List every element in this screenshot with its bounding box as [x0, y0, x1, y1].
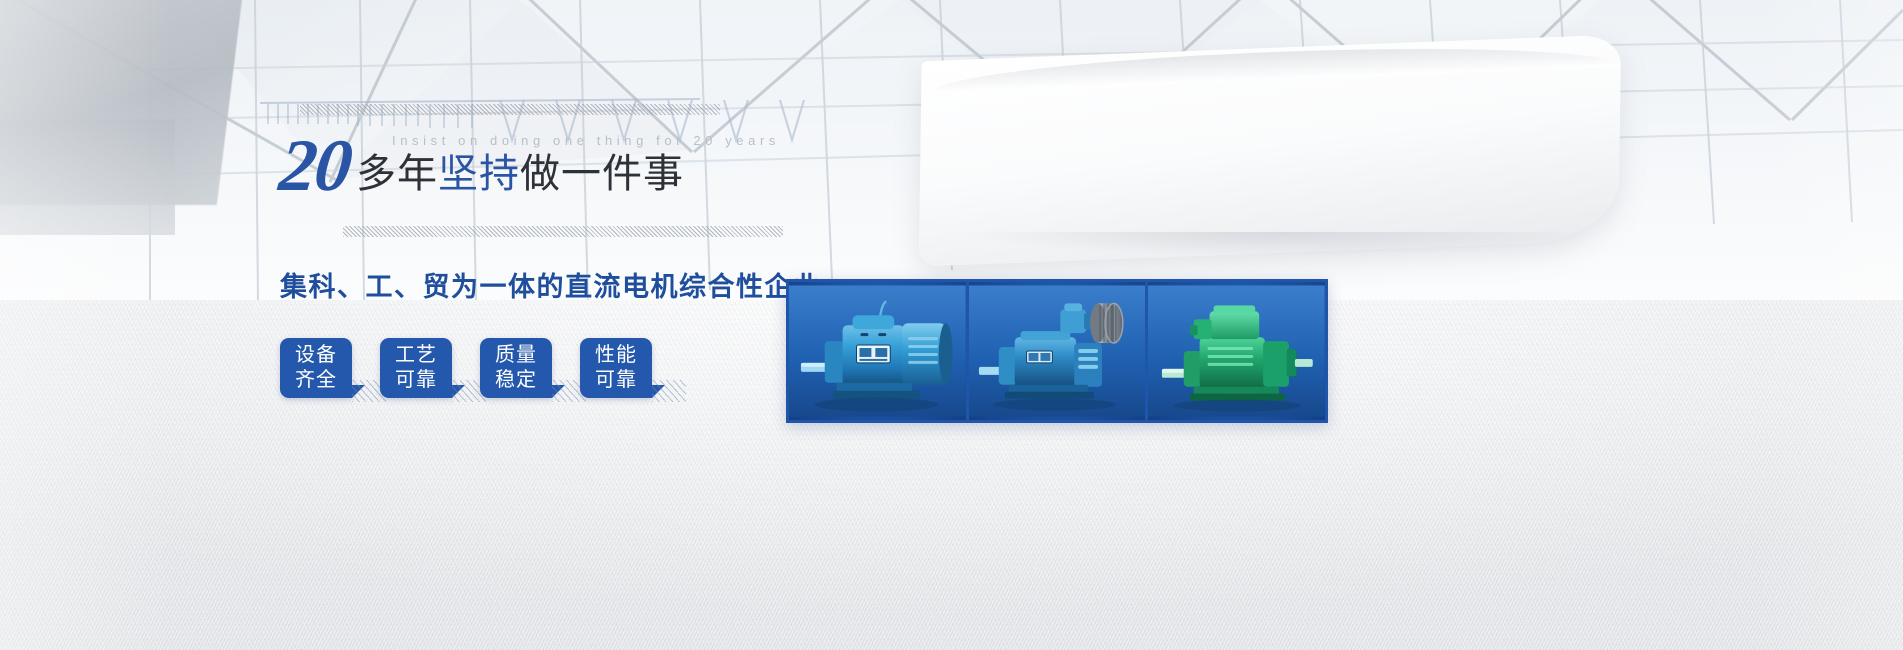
badge-line1: 质量 — [495, 343, 537, 368]
feature-badge-item[interactable]: 性能 可靠 — [580, 338, 652, 398]
decorative-hatch-middle — [343, 226, 783, 237]
decorative-hatch-top — [300, 104, 720, 115]
feature-badge-item[interactable]: 工艺 可靠 — [380, 338, 452, 398]
feature-badge-item[interactable]: 质量 稳定 — [480, 338, 552, 398]
badge-line1: 工艺 — [395, 343, 437, 368]
headline-chinese: 多年坚持做一件事 — [356, 152, 684, 198]
badge-streak-decor — [652, 380, 686, 402]
product-cell-2[interactable] — [966, 282, 1146, 420]
banner-content: 20 多年坚持做一件事 Insist on doing one thing fo… — [0, 0, 1903, 650]
product-cell-1[interactable] — [789, 282, 966, 420]
dc-motor-green-image — [1148, 282, 1325, 420]
badge-equipment-complete[interactable]: 设备 齐全 — [280, 338, 352, 398]
badge-line2: 齐全 — [295, 368, 337, 393]
feature-badge-list: 设备 齐全 工艺 可靠 质量 稳定 — [280, 338, 652, 398]
badge-line2: 可靠 — [395, 368, 437, 393]
headline-cn-before: 多年 — [356, 152, 438, 196]
headline-cn-after: 做一件事 — [520, 152, 684, 196]
headline-english-tagline: Insist on doing one thing for 20 years — [392, 133, 780, 148]
headline-cn-accent: 坚持 — [438, 152, 520, 196]
badge-line2: 稳定 — [495, 368, 537, 393]
subtitle: 集科、工、贸为一体的直流电机综合性企业 — [280, 265, 822, 304]
dc-motor-blue-with-blower-image — [969, 282, 1146, 420]
badge-quality-stable[interactable]: 质量 稳定 — [480, 338, 552, 398]
badge-craft-reliable[interactable]: 工艺 可靠 — [380, 338, 452, 398]
headline-number: 20 — [277, 134, 354, 198]
badge-line1: 设备 — [295, 343, 337, 368]
badge-line1: 性能 — [595, 343, 637, 368]
hero-banner: 20 多年坚持做一件事 Insist on doing one thing fo… — [0, 0, 1903, 650]
product-showcase-panel — [786, 279, 1328, 423]
badge-performance-reliable[interactable]: 性能 可靠 — [580, 338, 652, 398]
dc-motor-blue-large-image — [789, 282, 966, 420]
product-cell-3[interactable] — [1145, 282, 1325, 420]
badge-line2: 可靠 — [595, 368, 637, 393]
feature-badge-item[interactable]: 设备 齐全 — [280, 338, 352, 398]
